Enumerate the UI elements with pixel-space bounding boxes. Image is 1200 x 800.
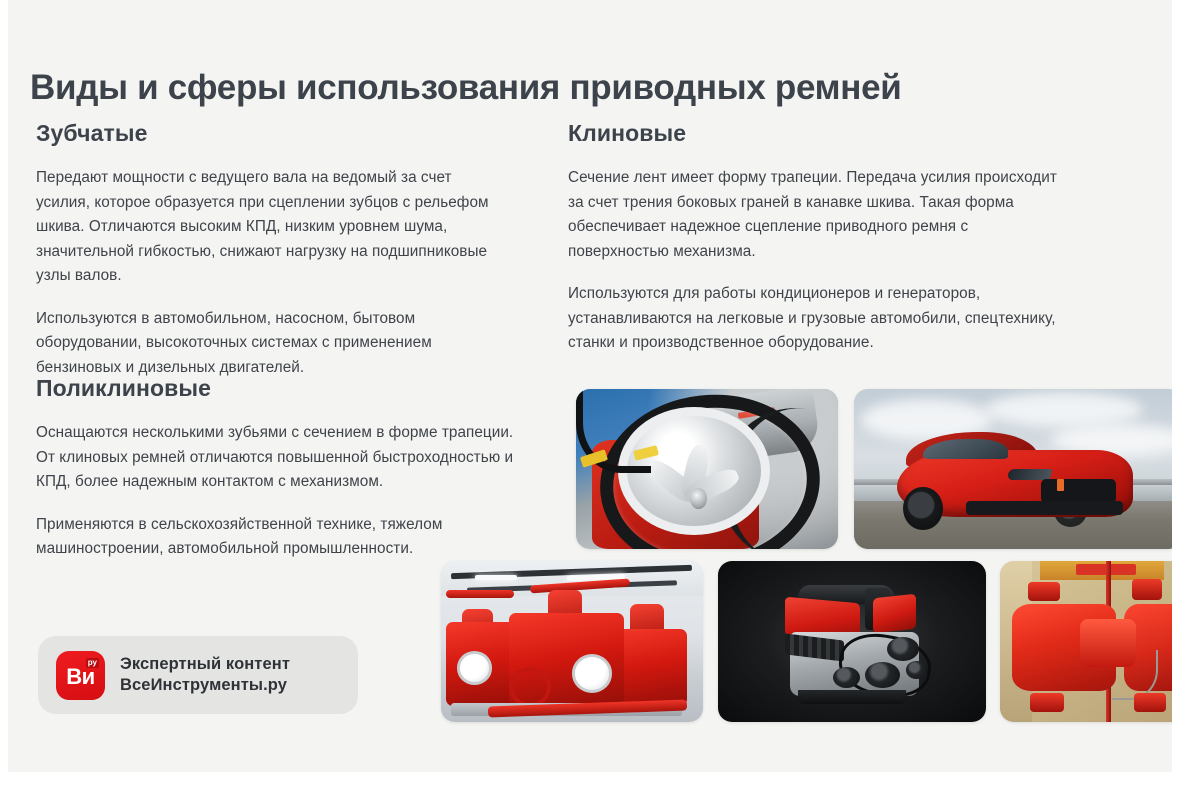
section-heading-zubchatye: Зубчатые	[36, 118, 504, 148]
car-front-splitter	[966, 501, 1123, 515]
section-paragraph: Применяются в сельскохозяйственной техни…	[36, 513, 526, 562]
car-grille	[1041, 479, 1116, 503]
pressure-gauge	[457, 651, 492, 684]
fire-pump-station-photo	[441, 561, 703, 722]
pipe-flange	[1134, 693, 1166, 712]
vseinstrumenty-logo-icon: Ви ру	[56, 651, 105, 700]
car-badge	[1057, 479, 1064, 492]
section-paragraph: Передают мощности с ведущего вала на вед…	[36, 166, 504, 289]
section-paragraph: Используются в автомобильном, насосном, …	[36, 307, 504, 381]
section-poliklinovye: Поликлиновые Оснащаются несколькими зубь…	[36, 373, 526, 562]
brand-badge[interactable]: Ви ру Экспертный контент ВсеИнструменты.…	[38, 636, 358, 714]
section-klinovye: Клиновые Сечение лент имеет форму трапец…	[568, 118, 1068, 356]
belt-drive-pulley-photo	[576, 389, 838, 549]
car-front-wheel	[903, 487, 942, 530]
pipe-flange	[1030, 693, 1064, 712]
section-paragraph: Сечение лент имеет форму трапеции. Перед…	[568, 166, 1068, 264]
pressure-gauge	[572, 654, 612, 692]
pulley-hub	[690, 488, 707, 509]
red-sports-car-photo	[854, 389, 1172, 549]
engine-pulley	[887, 637, 919, 661]
brand-line-2: ВсеИнструменты.ру	[120, 675, 290, 696]
cloud	[985, 392, 1142, 427]
engine-valve-cover	[873, 594, 916, 634]
brand-text: Экспертный контент ВсеИнструменты.ру	[120, 654, 290, 696]
section-zubchatye: Зубчатые Передают мощности с ведущего ва…	[36, 118, 504, 380]
engine-pulley	[906, 661, 927, 679]
section-paragraph: Используются для работы кондиционеров и …	[568, 282, 1068, 356]
red-pipe	[446, 590, 514, 598]
section-heading-klinovye: Клиновые	[568, 118, 1068, 148]
section-paragraph: Оснащаются несколькими зубьями с сечение…	[36, 421, 526, 495]
oil-pan	[798, 690, 905, 704]
page-title: Виды и сферы использования приводных рем…	[30, 67, 1130, 109]
ceiling-light	[475, 575, 517, 580]
industrial-pump-motor-photo	[1000, 561, 1172, 722]
brand-line-1: Экспертный контент	[120, 654, 290, 675]
pipe-flange	[1132, 579, 1162, 600]
infographic-canvas: Виды и сферы использования приводных рем…	[8, 0, 1172, 772]
v8-engine-photo	[718, 561, 986, 722]
section-heading-poliklinovye: Поликлиновые	[36, 373, 526, 403]
pipe-flange	[1028, 582, 1060, 601]
logo-superscript: ру	[86, 658, 99, 668]
logo-mark: Ви	[66, 666, 94, 688]
